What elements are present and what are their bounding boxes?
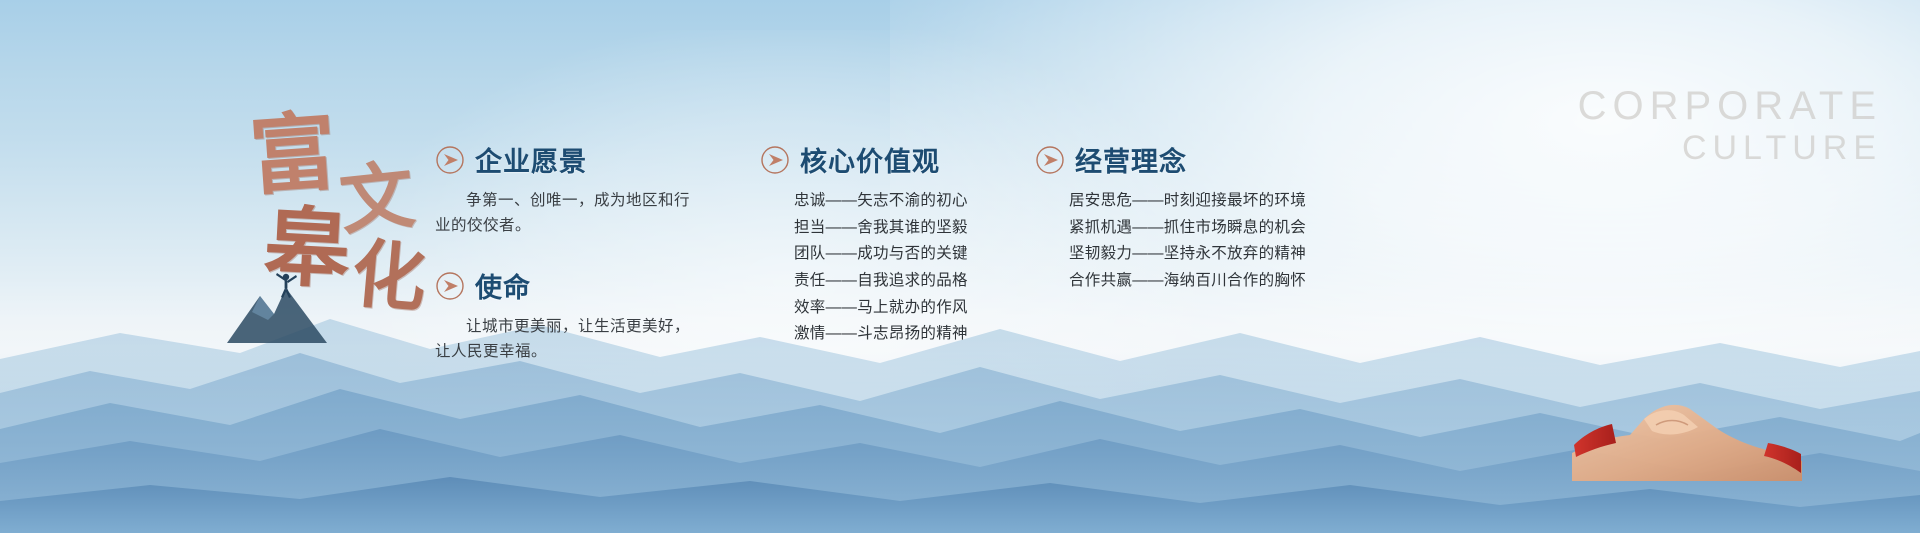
heading-row-vision: 企业愿景 [435,140,735,179]
heading-vision: 企业愿景 [475,140,587,179]
list-item: 团队——成功与否的关键 [794,241,1050,268]
circle-arrow-icon [435,271,465,301]
column-management-philosophy: 经营理念 居安思危——时刻迎接最坏的环境 紧抓机遇——抓住市场瞬息的机会 坚韧毅… [1035,140,1335,295]
list-item: 居安思危——时刻迎接最坏的环境 [1069,188,1335,215]
heading-mission: 使命 [475,266,531,305]
heading-row-core-values: 核心价值观 [760,140,1050,179]
heading-core-values: 核心价值观 [800,140,940,179]
list-item: 紧抓机遇——抓住市场瞬息的机会 [1069,215,1335,242]
culture-content: 企业愿景 争第一、创唯一，成为地区和行业的佼佼者。 使命 让城市更美丽，让生活更… [0,0,1920,533]
corporate-culture-banner: CORPORATE CULTURE 富 皋 文 化 [0,0,1920,533]
list-core-values: 忠诚——矢志不渝的初心 担当——舍我其谁的坚毅 团队——成功与否的关键 责任——… [760,188,1050,348]
list-item: 担当——舍我其谁的坚毅 [794,215,1050,242]
column-vision-mission: 企业愿景 争第一、创唯一，成为地区和行业的佼佼者。 使命 让城市更美丽，让生活更… [435,140,735,364]
list-management-philosophy: 居安思危——时刻迎接最坏的环境 紧抓机遇——抓住市场瞬息的机会 坚韧毅力——坚持… [1035,188,1335,295]
paragraph-vision: 争第一、创唯一，成为地区和行业的佼佼者。 [435,188,697,238]
heading-row-management-philosophy: 经营理念 [1035,140,1335,179]
heading-management-philosophy: 经营理念 [1075,140,1187,179]
list-item: 激情——斗志昂扬的精神 [794,321,1050,348]
block-vision: 企业愿景 争第一、创唯一，成为地区和行业的佼佼者。 [435,140,735,238]
circle-arrow-icon [435,145,465,175]
column-core-values: 核心价值观 忠诚——矢志不渝的初心 担当——舍我其谁的坚毅 团队——成功与否的关… [760,140,1050,348]
circle-arrow-icon [1035,145,1065,175]
paragraph-mission: 让城市更美丽，让生活更美好，让人民更幸福。 [435,314,697,364]
list-item: 效率——马上就办的作风 [794,295,1050,322]
list-item: 忠诚——矢志不渝的初心 [794,188,1050,215]
list-item: 坚韧毅力——坚持永不放弃的精神 [1069,241,1335,268]
circle-arrow-icon [760,145,790,175]
list-item: 责任——自我追求的品格 [794,268,1050,295]
heading-row-mission: 使命 [435,266,735,305]
list-item: 合作共赢——海纳百川合作的胸怀 [1069,268,1335,295]
block-mission: 使命 让城市更美丽，让生活更美好，让人民更幸福。 [435,266,735,364]
